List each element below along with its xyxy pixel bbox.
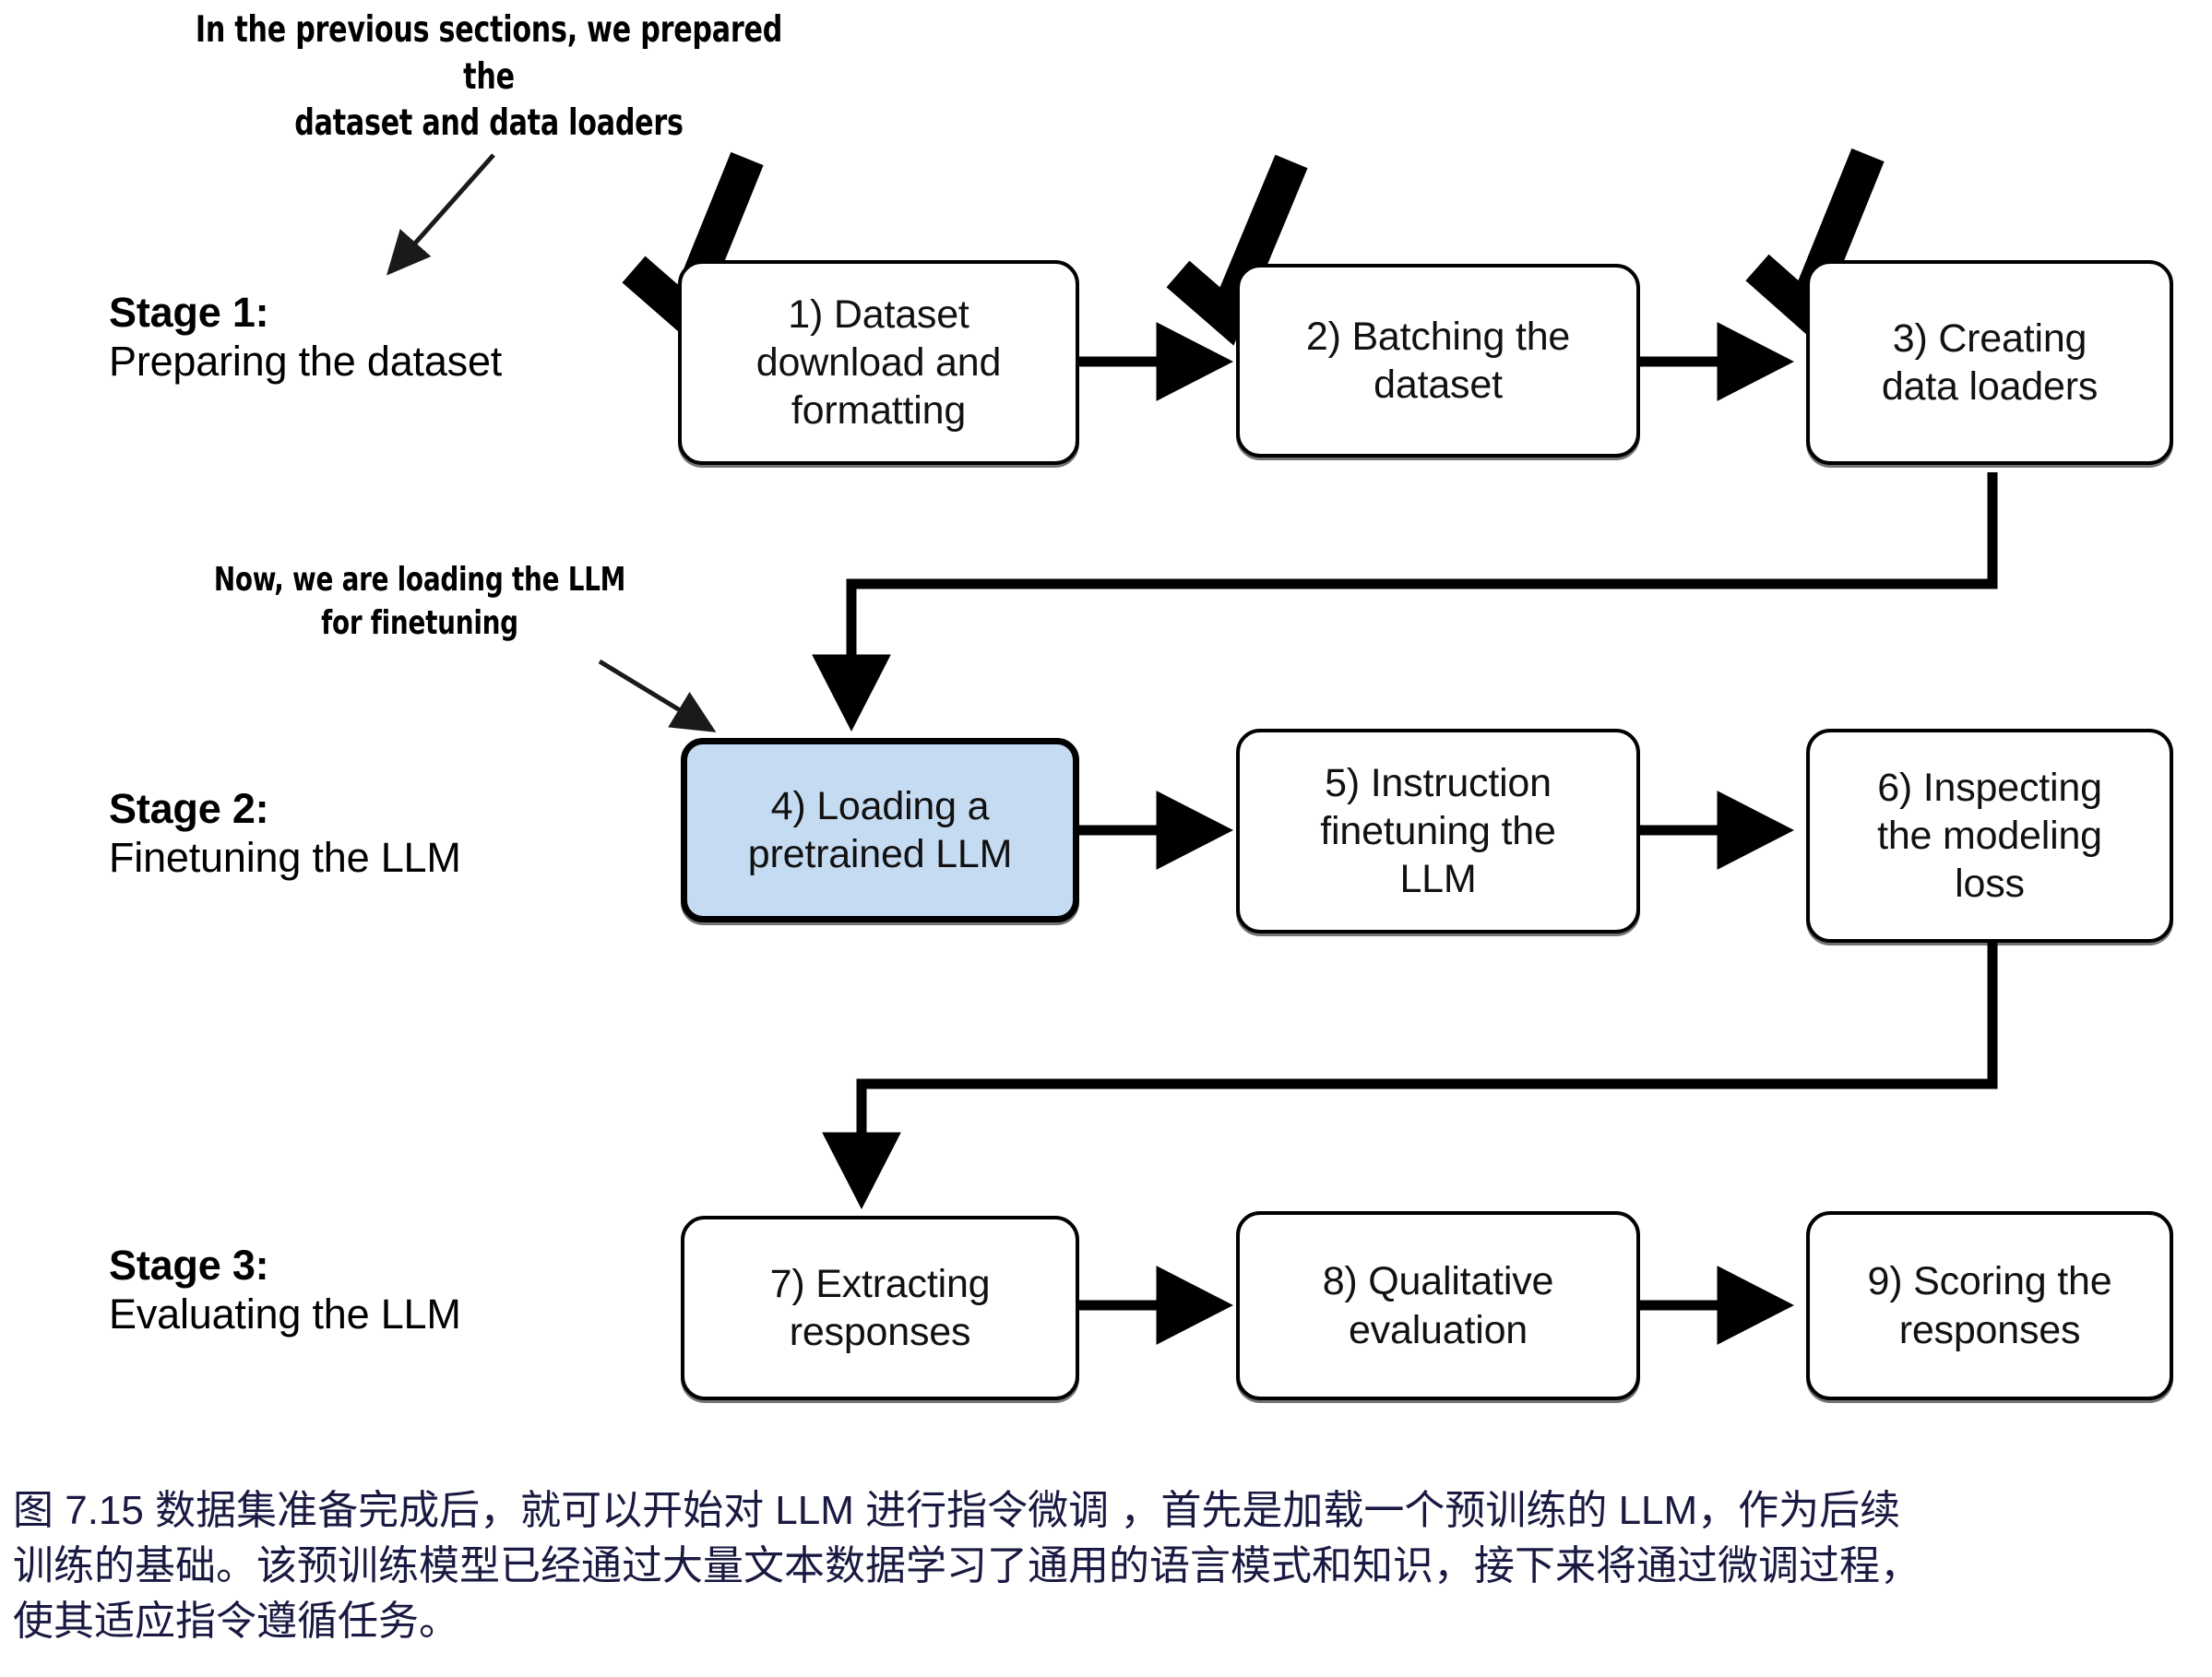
stage-1-title: Stage 1: — [109, 288, 502, 337]
stage-2-subtitle: Finetuning the LLM — [109, 833, 461, 884]
caption-line-3: 使其适应指令遵循任务。 — [13, 1594, 2201, 1649]
caption-line-2: 训练的基础。该预训练模型已经通过大量文本数据学习了通用的语言模式和知识，接下来将… — [13, 1539, 2201, 1594]
process-node-7-extracting-responses[interactable]: 7) Extracting responses — [681, 1216, 1079, 1400]
stage-2-title: Stage 2: — [109, 784, 461, 833]
process-node-3-creating-data-loaders[interactable]: 3) Creating data loaders — [1806, 260, 2173, 465]
annotation-previous-sections: In the previous sections, we prepared th… — [187, 7, 791, 148]
process-node-8-qualitative-evaluation[interactable]: 8) Qualitative evaluation — [1236, 1211, 1640, 1400]
process-node-2-batching-the-dataset[interactable]: 2) Batching the dataset — [1236, 264, 1640, 458]
annotation-loading-llm: Now, we are loading the LLM for finetuni… — [146, 559, 693, 646]
figure-caption: 图 7.15 数据集准备完成后，就可以开始对 LLM 进行指令微调 ，首先是加载… — [13, 1483, 2201, 1648]
figure-canvas: In the previous sections, we prepared th… — [0, 0, 2212, 1677]
stage-label-1: Stage 1: Preparing the dataset — [109, 288, 502, 387]
annotation-pointer-arrow-2 — [600, 661, 710, 729]
process-node-6-inspecting-the-modeling-loss[interactable]: 6) Inspecting the modeling loss — [1806, 729, 2173, 943]
flow-connector-n6-n7 — [862, 943, 1992, 1199]
stage-label-3: Stage 3: Evaluating the LLM — [109, 1241, 461, 1340]
stage-label-2: Stage 2: Finetuning the LLM — [109, 784, 461, 884]
stage-1-subtitle: Preparing the dataset — [109, 337, 502, 387]
process-node-4-loading-a-pretrained-llm[interactable]: 4) Loading a pretrained LLM — [681, 738, 1079, 922]
flow-connector-n3-n4 — [851, 472, 1992, 721]
stage-3-title: Stage 3: — [109, 1241, 461, 1290]
process-node-1-dataset-download-and-formatting[interactable]: 1) Dataset download and formatting — [678, 260, 1079, 465]
annotation-pointer-arrow-1 — [391, 155, 494, 270]
stage-3-subtitle: Evaluating the LLM — [109, 1290, 461, 1340]
process-node-5-instruction-finetuning-the-llm[interactable]: 5) Instruction finetuning the LLM — [1236, 729, 1640, 934]
process-node-9-scoring-the-responses[interactable]: 9) Scoring the responses — [1806, 1211, 2173, 1400]
caption-line-1: 图 7.15 数据集准备完成后，就可以开始对 LLM 进行指令微调 ，首先是加载… — [13, 1483, 2201, 1539]
